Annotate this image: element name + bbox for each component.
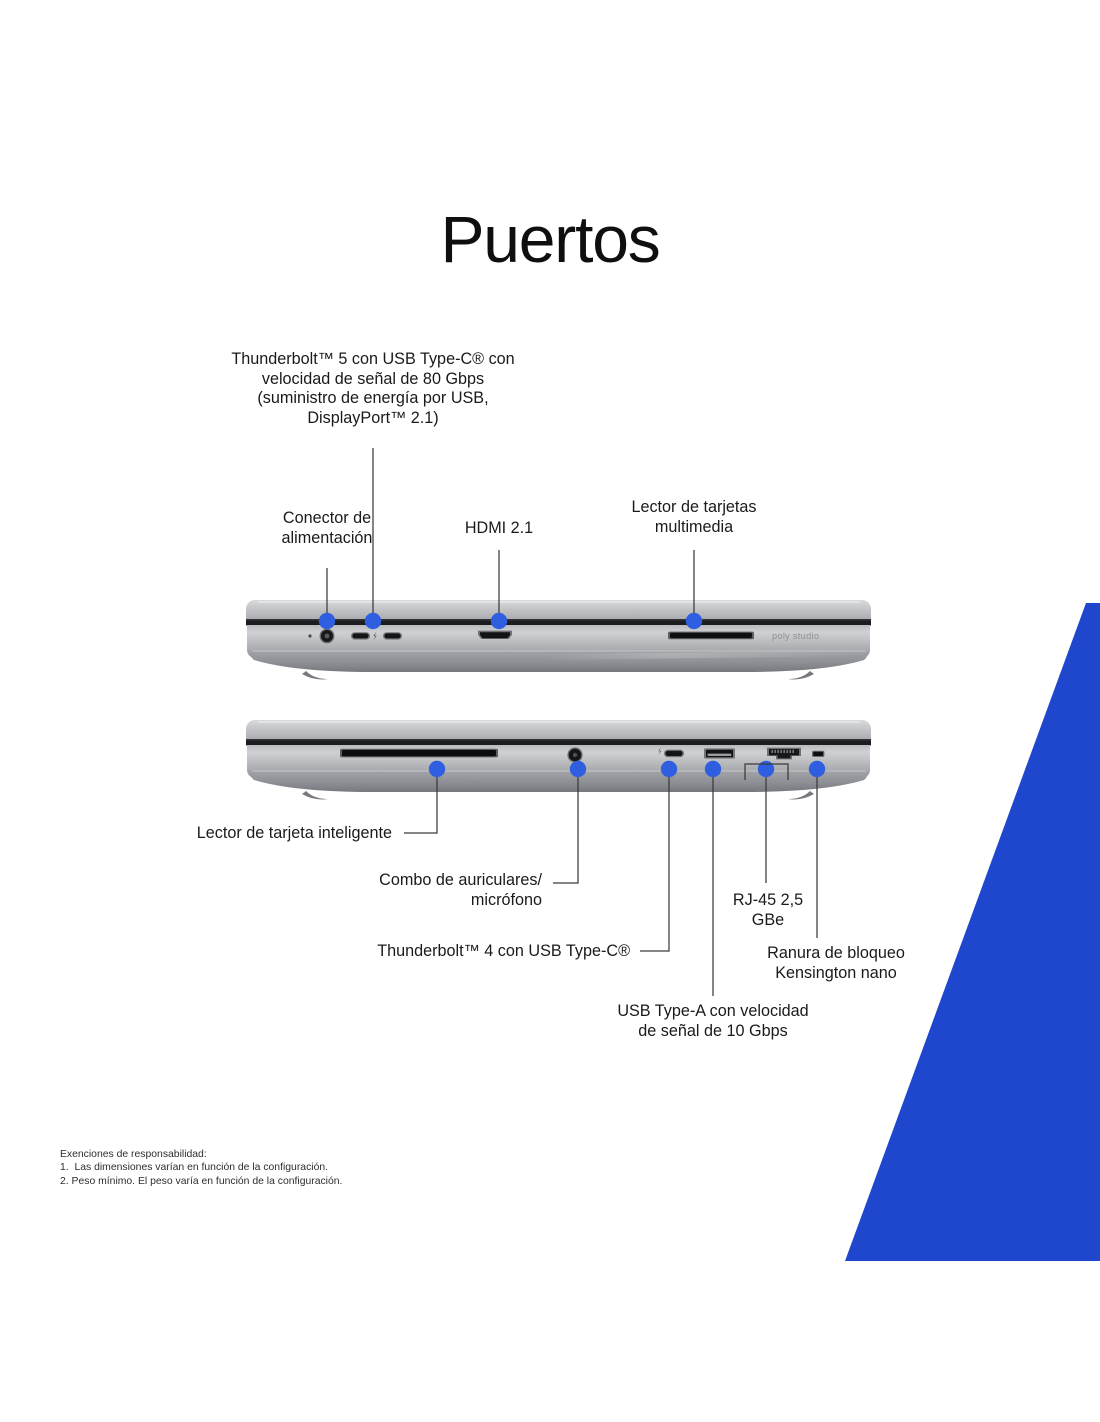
callout-power-connector-label: Conector de alimentación: [227, 509, 427, 548]
laptop-side-edge-view: [244, 718, 874, 800]
callout-media-card-reader-label: Lector de tarjetas multimedia: [594, 498, 794, 537]
disclaimer-item-1: 1. Las dimensiones varían en función de …: [60, 1161, 580, 1174]
disclaimer-item-2: 2. Peso mínimo. El peso varía en función…: [60, 1175, 580, 1188]
laptop-rear-edge-view: poly studio: [244, 598, 874, 680]
callout-hdmi-label: HDMI 2.1: [419, 519, 579, 539]
page-title: Puertos: [0, 206, 1100, 272]
callout-smart-card-reader-label: Lector de tarjeta inteligente: [100, 824, 392, 844]
disclaimers-block: Exenciones de responsabilidad: 1. Las di…: [60, 1148, 580, 1188]
callout-kensington-lock-label: Ranura de bloqueo Kensington nano: [736, 944, 936, 983]
ports-infographic-page: Puertos: [0, 0, 1100, 1422]
callout-rj45-label: RJ-45 2,5 GBe: [716, 891, 820, 930]
callout-usb-type-a-label: USB Type-A con velocidad de señal de 10 …: [588, 1002, 838, 1041]
poly-studio-branding: poly studio: [772, 631, 819, 641]
disclaimers-heading: Exenciones de responsabilidad:: [60, 1148, 580, 1161]
callout-headset-combo-label: Combo de auriculares/ micrófono: [280, 871, 542, 910]
callout-thunderbolt-5-label: Thunderbolt™ 5 con USB Type-C® con veloc…: [178, 350, 568, 428]
callout-thunderbolt-4-label: Thunderbolt™ 4 con USB Type-C®: [300, 942, 630, 962]
